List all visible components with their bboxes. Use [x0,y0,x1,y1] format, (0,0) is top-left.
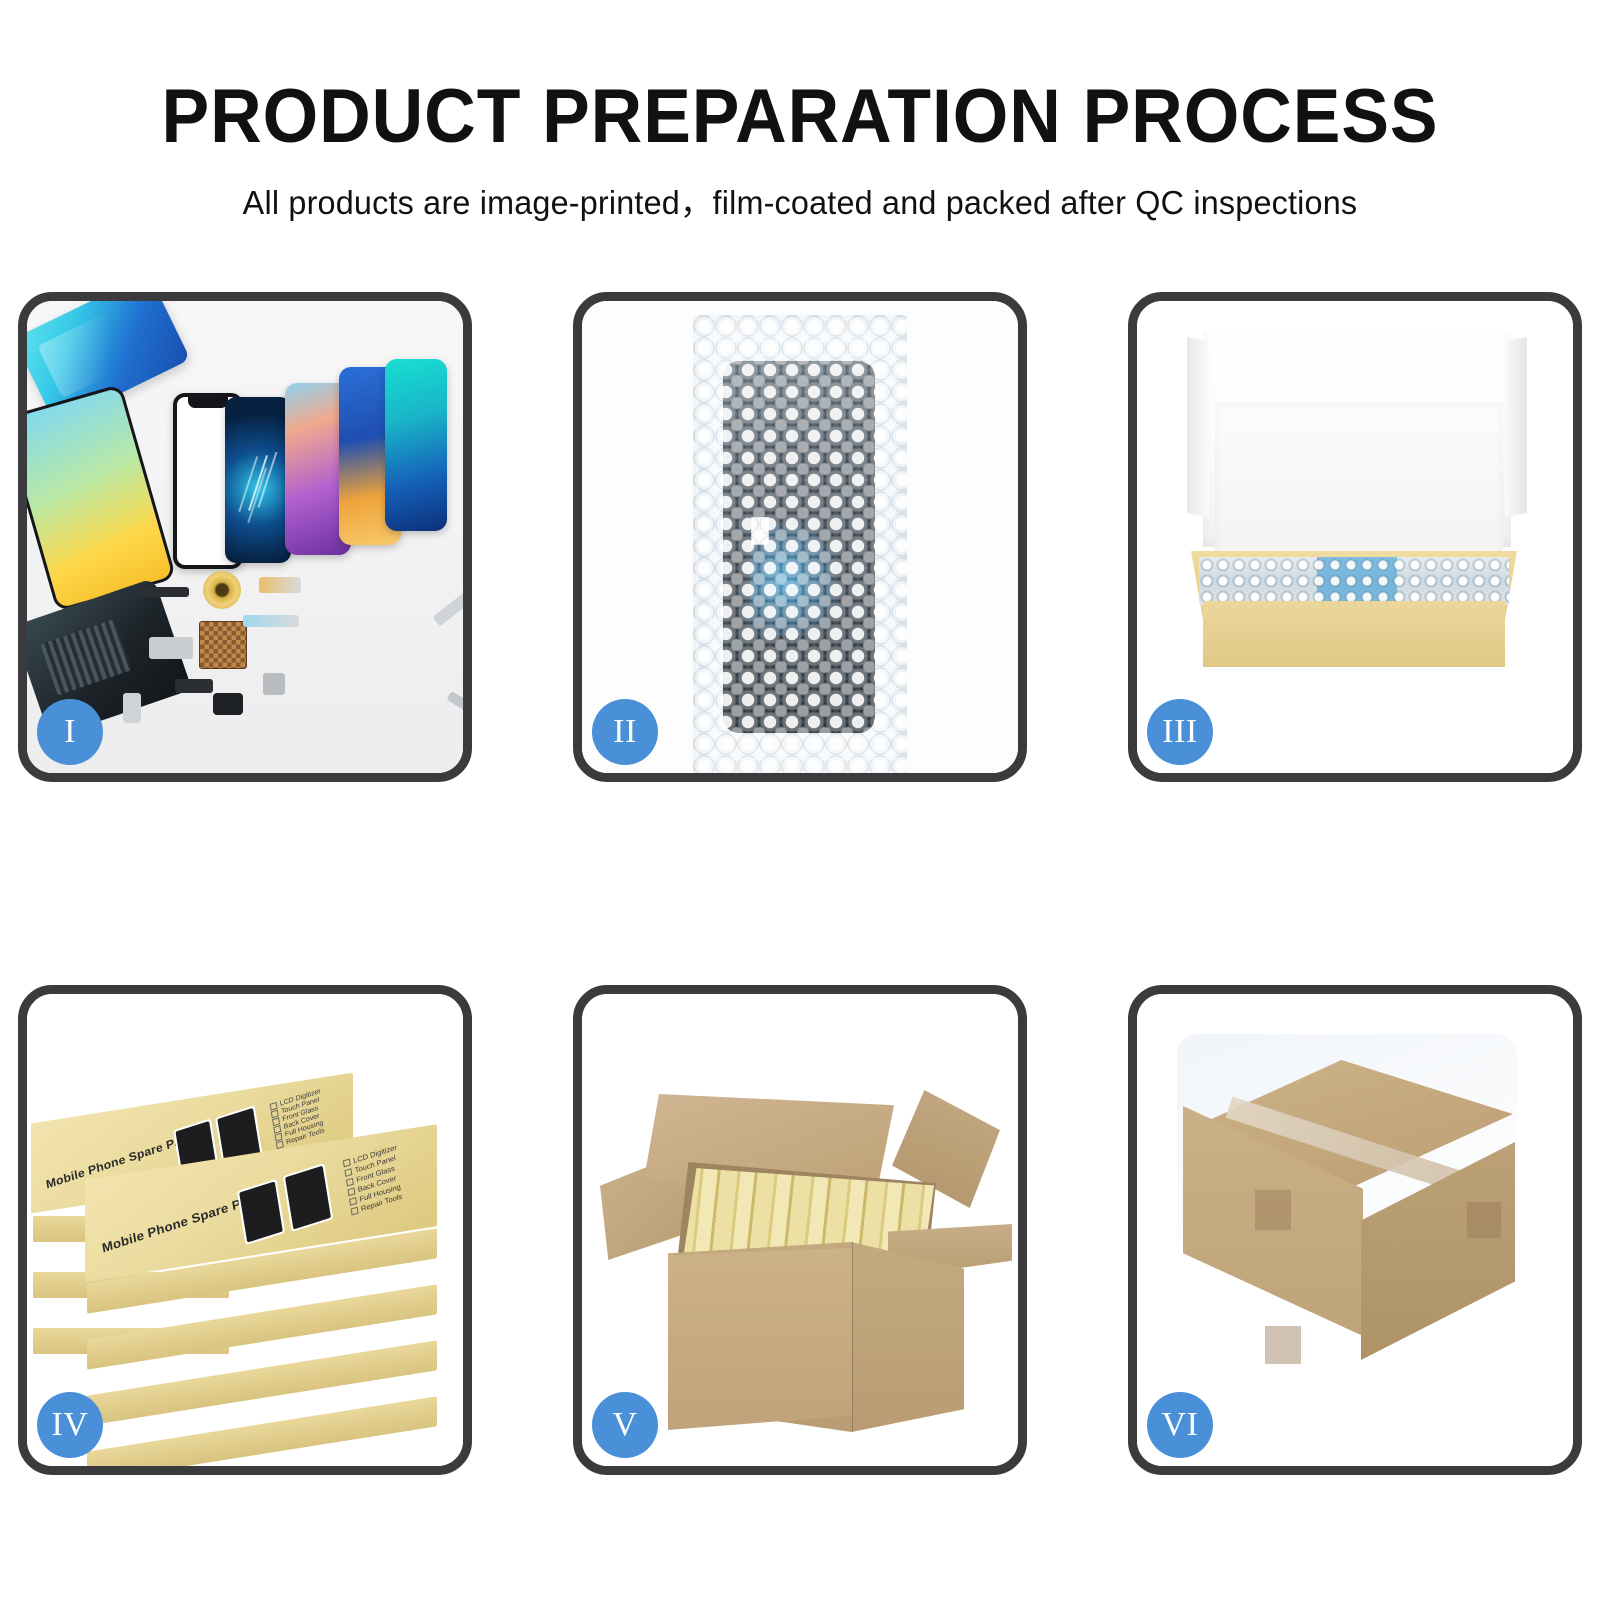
sim-tray-part [123,693,141,723]
step-panel-6: VI [1128,985,1582,1475]
repair-tool-tweezers [432,587,463,626]
carton-tab-upper [1255,1190,1291,1230]
sensor-part [263,673,285,695]
phone-display-teal [385,359,447,531]
page-title: PRODUCT PREPARATION PROCESS [48,78,1552,156]
carton-filling-illustration [582,994,1018,1466]
step-badge-5: V [592,1392,658,1458]
step-badge-2: II [592,699,658,765]
connector-part [175,679,213,693]
speaker-part [135,587,189,597]
checkbox-icon [351,1207,359,1216]
product-blue-accent [1317,557,1398,605]
step-image-4: Mobile Phone Spare Parts LCD Digitizer T… [27,994,463,1466]
checkbox-icon [346,1178,354,1187]
step-panel-1: I [18,292,472,782]
infographic-page: PRODUCT PREPARATION PROCESS All products… [0,0,1600,1600]
carton-tab-lower [1265,1326,1301,1364]
cracked-screen-part [225,397,291,563]
broken-phone-yellow [27,384,176,612]
retail-box-stack: Mobile Phone Spare Parts LCD Digitizer T… [27,1040,463,1460]
step-panel-4: Mobile Phone Spare Parts LCD Digitizer T… [18,985,472,1475]
step-image-5 [582,994,1018,1466]
bubble-texture [693,315,907,773]
retail-box-checklist-1: LCD Digitizer Touch Panel Front Glass Ba… [270,1088,328,1150]
checkbox-icon [349,1197,357,1206]
wireless-charging-coil-part [203,571,241,609]
sealed-carton-illustration [1137,994,1573,1466]
carton-tab-right [1467,1202,1501,1238]
screw-part [446,691,463,713]
step-badge-4: IV [37,1392,103,1458]
stacked-boxes-illustration: Mobile Phone Spare Parts LCD Digitizer T… [27,994,463,1466]
step-badge-6: VI [1147,1392,1213,1458]
step-panel-2: II [573,292,1027,782]
bubble-wrap-illustration [582,301,1018,773]
step-image-1 [27,301,463,773]
step-panel-3: III [1128,292,1582,782]
page-subtitle: All products are image-printed，film-coat… [16,176,1584,224]
retail-box-screen-thumb-2b [283,1163,334,1232]
step-badge-3: III [1147,699,1213,765]
checkbox-icon [344,1168,352,1177]
step-image-6 [1137,994,1573,1466]
mailer-box-illustration [1137,301,1573,773]
checkbox-icon [347,1187,355,1196]
foam-liner [1215,403,1503,561]
checkbox-icon [343,1158,351,1167]
step-badge-1: I [37,699,103,765]
box-front-wall [1203,601,1505,667]
camera-module-part [149,637,193,659]
bubble-wrap-bag [693,315,907,773]
step-panel-5: V [573,985,1027,1475]
step-image-2 [582,301,1018,773]
retail-box-screen-thumb-2a [237,1179,285,1245]
wrapped-product-in-box [1199,557,1509,605]
flex-cable-part-b [243,615,299,627]
header: PRODUCT PREPARATION PROCESS All products… [0,0,1600,224]
process-step-grid: I II [18,292,1582,1475]
step-image-3 [1137,301,1573,773]
carton-body-left-face [668,1248,852,1430]
ic-chip-part [199,621,247,669]
flex-cable-part-a [259,577,301,593]
parts-collage-illustration [27,301,463,773]
retail-box-checklist-2: LCD Digitizer Touch Panel Front Glass Ba… [343,1143,406,1218]
vibrator-part [213,693,243,715]
